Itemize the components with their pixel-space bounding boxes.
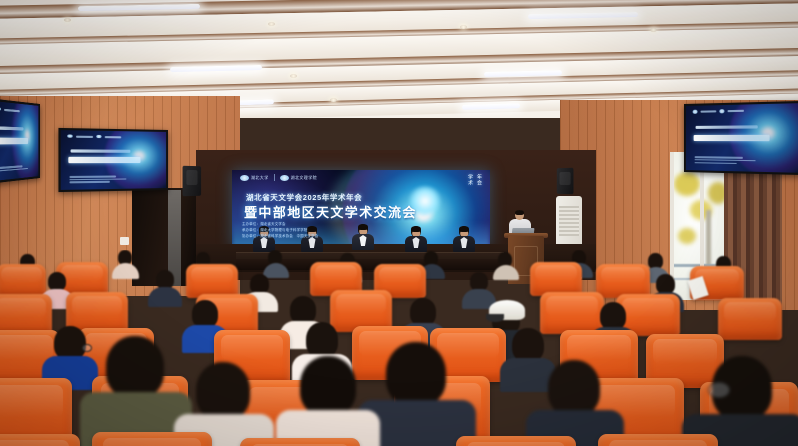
auditorium-seat[interactable] — [596, 264, 650, 298]
conference-hall-scene: 湖北大学 湖北文理学院 湖北省天文学会2025年学术年会 暨中部地区天文学术交流… — [0, 0, 798, 446]
university-seal-icon — [240, 175, 249, 181]
attendee-head — [548, 360, 600, 416]
attendee-head — [250, 274, 269, 294]
panelist-hair — [358, 224, 368, 230]
logo-label: 湖北大学 — [251, 176, 269, 180]
attendee-head — [192, 300, 218, 328]
recessed-downlight — [330, 98, 337, 102]
audience-area — [0, 250, 798, 446]
wall-speaker — [557, 168, 574, 194]
attendee-head — [656, 274, 675, 294]
light-switch[interactable] — [120, 237, 129, 245]
vertical-text-col: 年会 — [476, 174, 483, 186]
speaker-hair — [515, 210, 524, 215]
auditorium-seat[interactable] — [456, 436, 576, 446]
recessed-downlight — [290, 74, 297, 78]
auditorium-seat[interactable] — [530, 262, 582, 296]
university-seal-icon — [96, 135, 101, 139]
university-seal-icon — [0, 107, 1, 111]
tv-screen-content — [686, 103, 798, 173]
attendee-head — [106, 336, 164, 398]
screen-vertical-text: 学术 年会 — [467, 174, 483, 186]
tv-credits — [694, 157, 755, 165]
tv-far-left — [0, 98, 40, 183]
tv-logo-text — [727, 110, 744, 112]
tv-screen-content — [0, 101, 38, 181]
attendee-head — [306, 322, 338, 358]
tv-logo-bar — [67, 134, 121, 138]
tv-credit-line — [694, 159, 755, 161]
attendee-head — [54, 326, 86, 360]
auditorium-seat[interactable] — [0, 264, 46, 298]
university-seal-icon — [692, 110, 697, 114]
host-university-logo-1: 湖北大学 — [240, 175, 269, 181]
logo-label: 湖北文理学院 — [291, 176, 317, 180]
foliage — [678, 228, 696, 244]
vertical-text-col: 学术 — [467, 174, 474, 186]
recessed-downlight — [268, 22, 275, 26]
auditorium-seat[interactable] — [598, 434, 718, 446]
tv-right — [684, 101, 798, 175]
tv-screen-content — [61, 130, 166, 190]
tv-credits — [70, 176, 127, 184]
tv-logo-text — [4, 108, 20, 112]
auditorium-seat[interactable] — [0, 434, 80, 446]
university-seal-icon — [280, 175, 289, 181]
wall-speaker — [183, 166, 202, 197]
auditorium-seat[interactable] — [92, 432, 212, 446]
recessed-downlight — [64, 18, 71, 22]
credit-line: 主办单位：湖北省天文学会 — [242, 222, 318, 226]
auditorium-seat[interactable] — [186, 264, 238, 298]
screen-logo-bar: 湖北大学 湖北文理学院 — [240, 174, 317, 181]
attendee-head — [196, 362, 250, 420]
tv-logo-text — [76, 135, 93, 137]
recessed-downlight — [650, 28, 657, 32]
tv-credit-line — [694, 162, 736, 164]
university-seal-icon — [67, 134, 72, 138]
attendee-head — [300, 356, 356, 416]
attendee-head — [410, 298, 436, 326]
auditorium-seat[interactable] — [540, 292, 604, 334]
panelist-hair — [459, 226, 469, 232]
attendee-shoulders — [112, 263, 139, 279]
tv-credit-line — [70, 178, 127, 180]
tv-credit-line — [70, 181, 110, 183]
foliage — [674, 172, 700, 196]
logo-divider — [274, 174, 275, 181]
tv-logo-text — [105, 136, 122, 138]
attendee-head — [290, 296, 316, 324]
tv-title-line — [693, 135, 770, 141]
eyeglasses — [82, 344, 92, 352]
tv-title-line — [68, 157, 140, 163]
tv-logo-text — [700, 111, 716, 113]
panelist-hair — [411, 226, 421, 232]
eyeglasses — [708, 382, 730, 398]
cap-brim — [486, 314, 504, 322]
credit-line: 承办单位：湖北大学物理与电子科学学院 — [242, 228, 318, 232]
attendee-shoulders — [148, 287, 182, 307]
recessed-downlight — [460, 25, 467, 29]
attendee-head — [386, 342, 446, 406]
attendee-head — [600, 302, 626, 330]
tv-left — [58, 128, 168, 192]
tv-subtitle-line — [71, 149, 131, 152]
auditorium-seat[interactable] — [240, 438, 360, 446]
screen-title: 暨中部地区天文学术交流会 — [244, 202, 417, 221]
host-university-logo-2: 湖北文理学院 — [280, 175, 317, 181]
attendee-shoulders — [263, 263, 289, 278]
tv-title-line — [0, 137, 28, 144]
university-seal-icon — [719, 110, 724, 114]
ac-vent — [559, 206, 579, 236]
attendee-shoulders — [493, 265, 519, 280]
attendee-head — [512, 328, 544, 362]
tv-credit-line — [70, 176, 117, 178]
auditorium-seat[interactable] — [718, 298, 782, 340]
credit-line: 协办单位：湖北省科学技术协会 中国天文学会 — [242, 234, 318, 238]
screen-organizer-credits: 主办单位：湖北省天文学会 承办单位：湖北大学物理与电子科学学院 协办单位：湖北省… — [242, 222, 318, 238]
